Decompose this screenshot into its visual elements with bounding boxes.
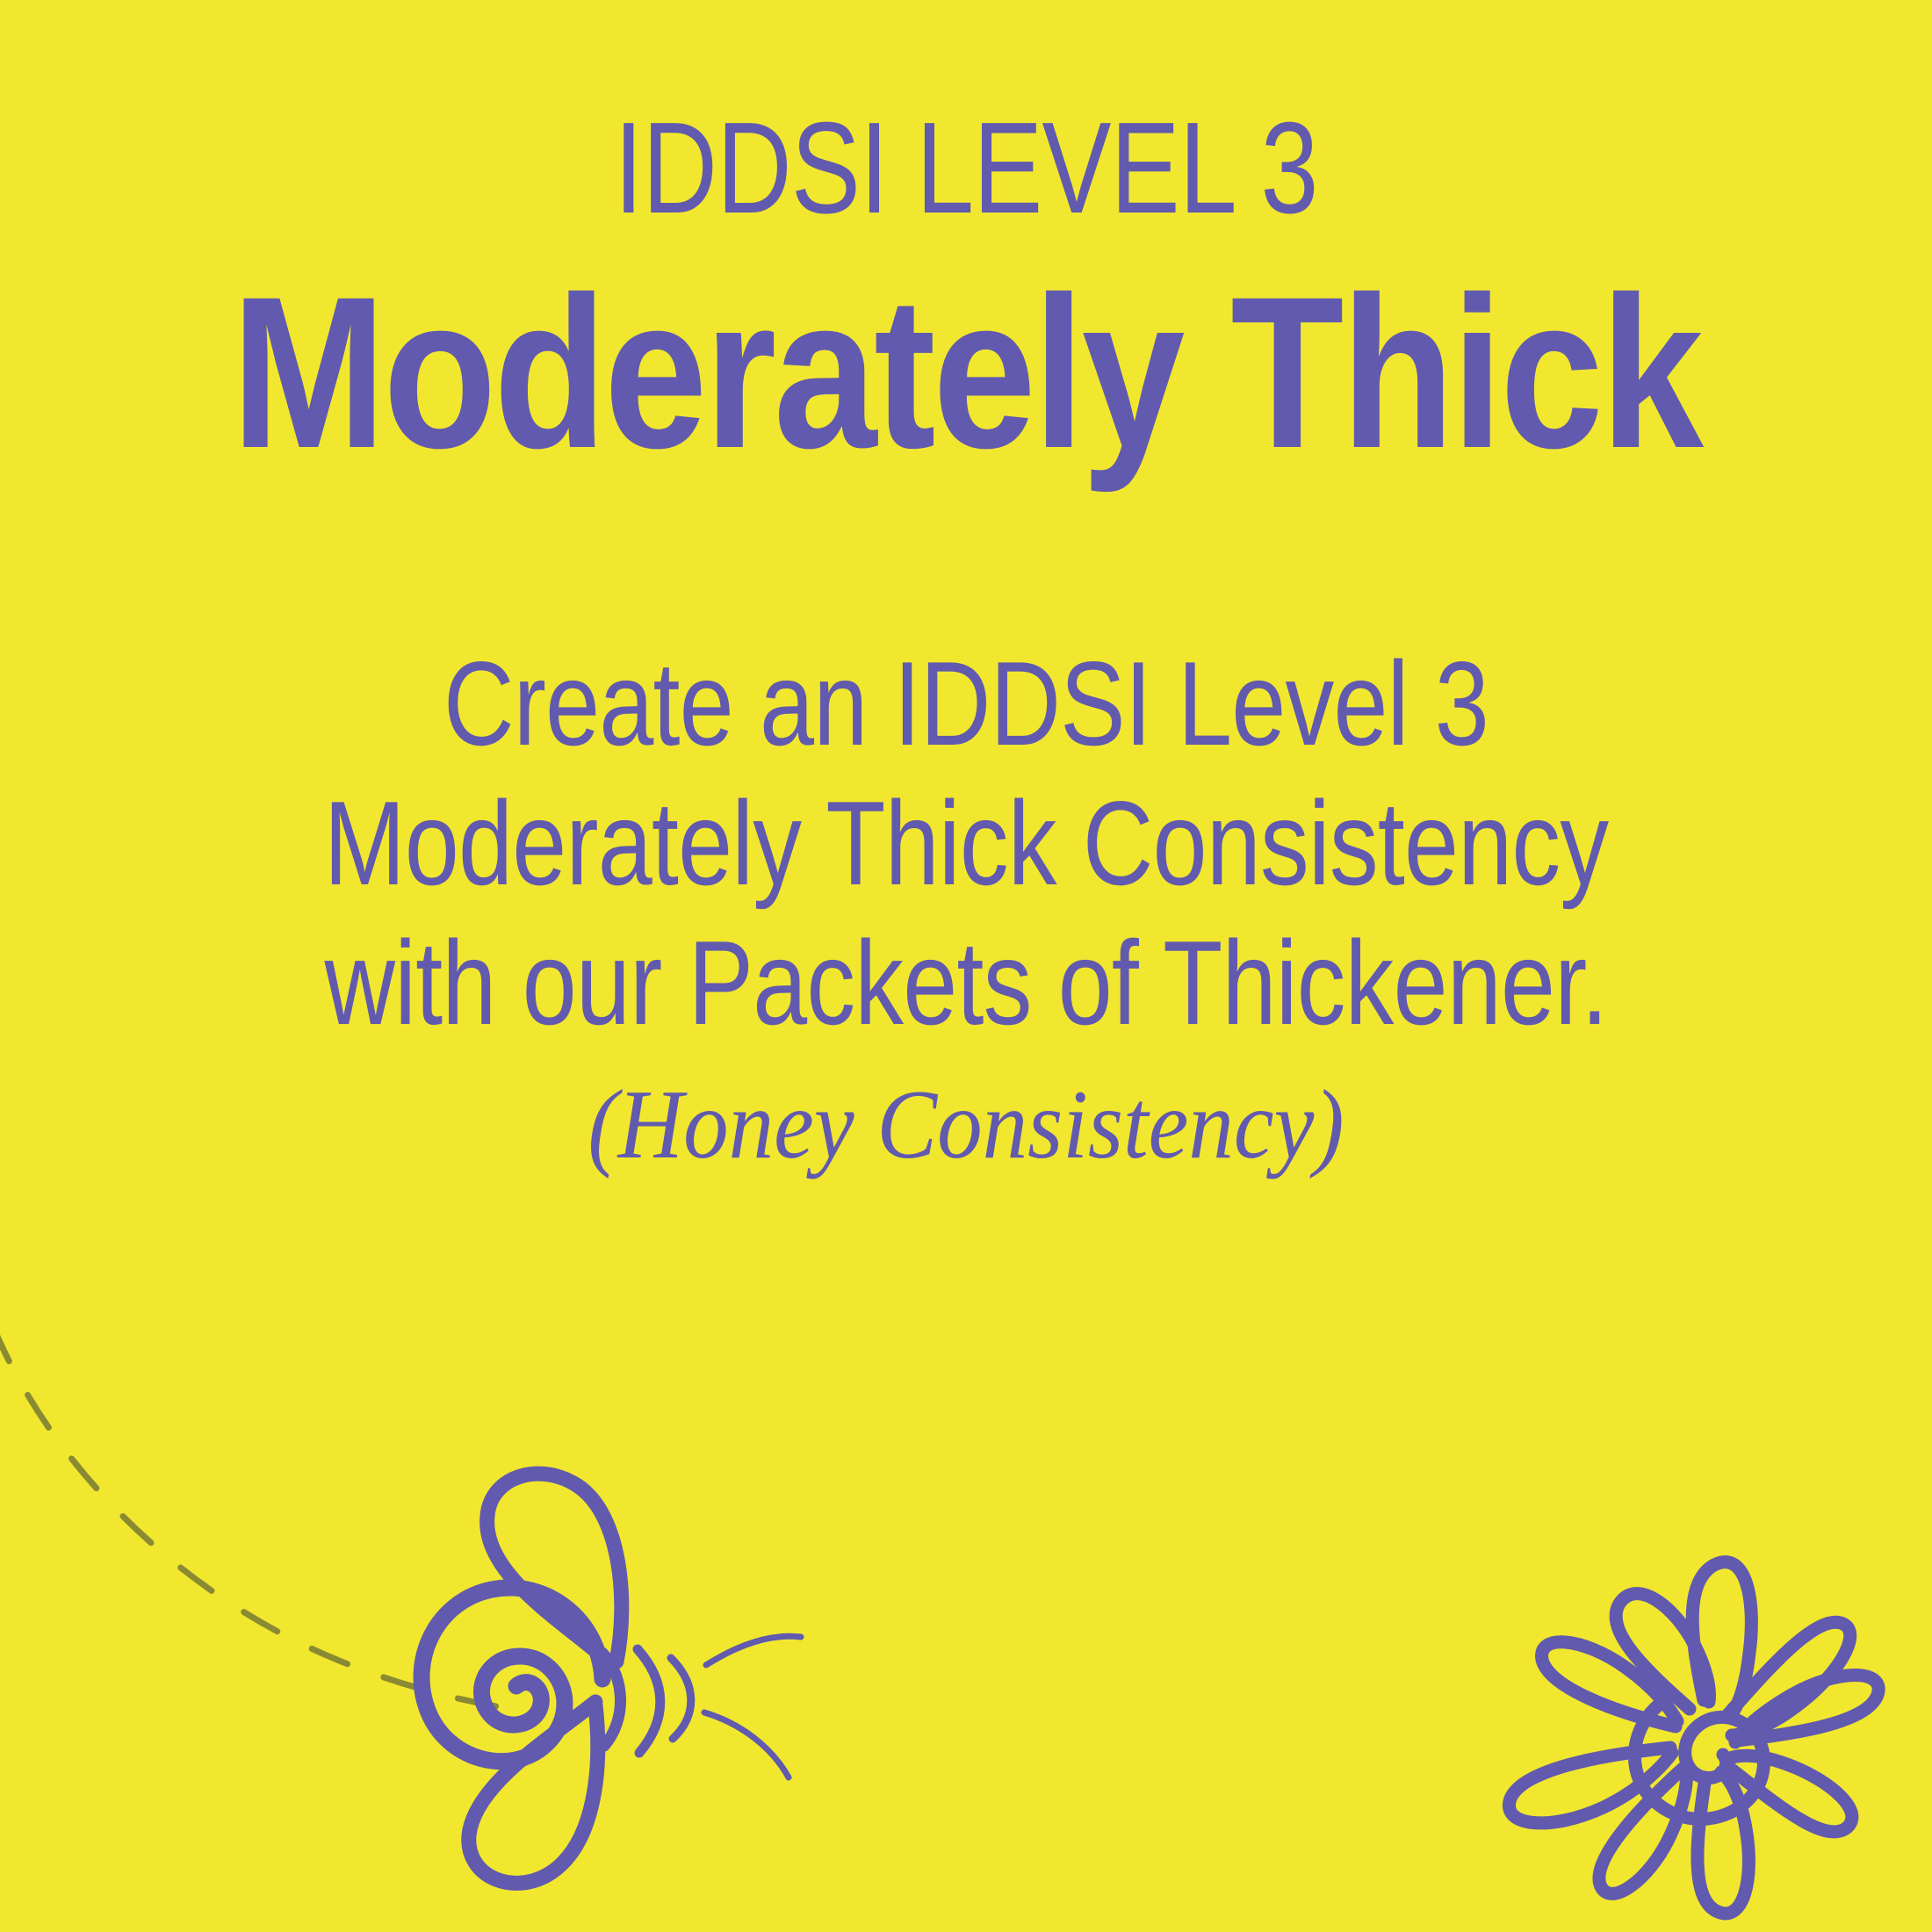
- bee-icon: [378, 1423, 834, 1914]
- poster-text-block: IDDSI LEVEL 3 Moderately Thick Create an…: [0, 0, 1932, 1174]
- body-copy: Create an IDDSI Level 3 Moderately Thick…: [174, 481, 1758, 1053]
- flower-icon: [1440, 1546, 1932, 1932]
- poster-canvas: IDDSI LEVEL 3 Moderately Thick Create an…: [0, 0, 1932, 1932]
- body-copy-line-3: with our Packets of Thickener.: [174, 913, 1758, 1053]
- eyebrow-label: IDDSI LEVEL 3: [193, 0, 1739, 234]
- body-copy-line-1: Create an IDDSI Level 3: [174, 634, 1758, 774]
- body-copy-line-2: Moderately Thick Consistency: [174, 774, 1758, 913]
- page-title: Moderately Thick: [135, 234, 1797, 481]
- dashed-flight-path-icon: [0, 1265, 606, 1756]
- consistency-subnote: (Honey Consistency): [77, 1053, 1855, 1174]
